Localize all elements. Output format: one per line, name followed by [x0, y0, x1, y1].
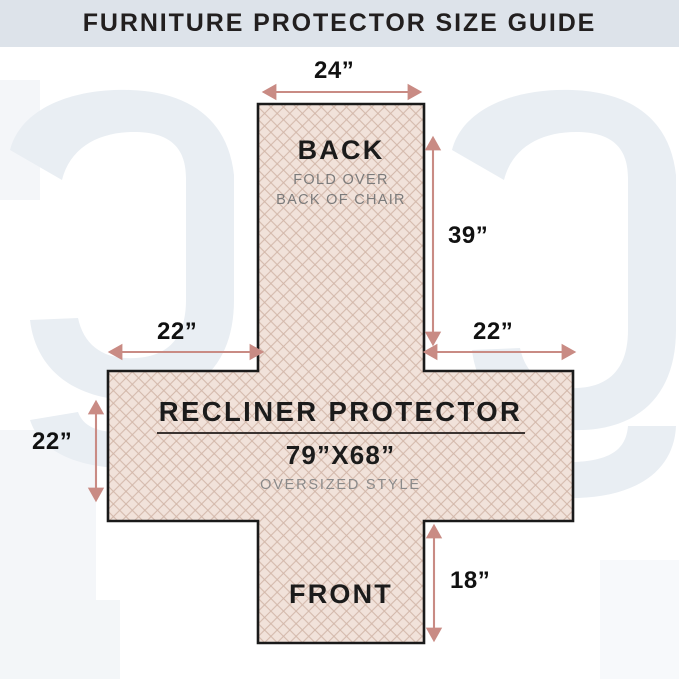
dimension-label-back-height: 39” [448, 222, 488, 250]
size-guide-canvas: FURNITURE PROTECTOR SIZE GUIDE BACK FOLD… [0, 0, 679, 679]
dimension-label-top-width: 24” [314, 57, 354, 85]
dimension-label-right-arm: 22” [473, 318, 513, 346]
dimension-label-left-arm: 22” [157, 318, 197, 346]
dimension-label-front-height: 18” [450, 567, 490, 595]
dimension-labels-layer: 24” 39” 22” 22” 22” 18” [0, 0, 679, 679]
dimension-label-arm-height: 22” [32, 428, 72, 456]
